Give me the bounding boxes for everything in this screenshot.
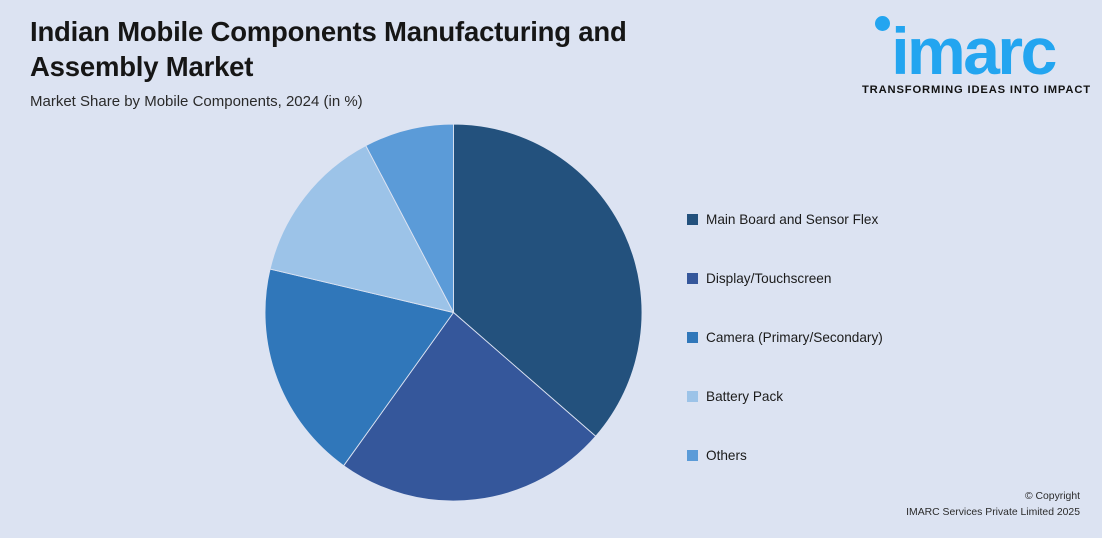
legend-item[interactable]: Camera (Primary/Secondary) [687, 308, 1027, 367]
legend-label: Battery Pack [706, 390, 783, 404]
chart-legend: Main Board and Sensor FlexDisplay/Touchs… [687, 190, 1027, 485]
copyright-line-1: © Copyright [906, 489, 1080, 505]
legend-label: Display/Touchscreen [706, 272, 831, 286]
copyright-notice: © Copyright IMARC Services Private Limit… [906, 489, 1080, 521]
header: Indian Mobile Components Manufacturing a… [30, 14, 750, 112]
logo-dot-icon [875, 16, 890, 31]
legend-item[interactable]: Others [687, 426, 1027, 485]
page-title: Indian Mobile Components Manufacturing a… [30, 14, 750, 84]
legend-swatch-icon [687, 214, 698, 225]
legend-swatch-icon [687, 332, 698, 343]
legend-swatch-icon [687, 273, 698, 284]
imarc-logo: imarc TRANSFORMING IDEAS INTO IMPACT [862, 16, 1084, 96]
pie-chart-svg [265, 124, 642, 501]
legend-label: Camera (Primary/Secondary) [706, 331, 883, 345]
chart-canvas: Indian Mobile Components Manufacturing a… [0, 0, 1102, 538]
legend-swatch-icon [687, 450, 698, 461]
legend-item[interactable]: Display/Touchscreen [687, 249, 1027, 308]
legend-item[interactable]: Main Board and Sensor Flex [687, 190, 1027, 249]
logo-wordmark-text: imarc [891, 14, 1055, 88]
pie-chart [265, 124, 642, 501]
logo-wordmark: imarc [862, 16, 1084, 78]
copyright-line-2: IMARC Services Private Limited 2025 [906, 505, 1080, 521]
legend-label: Main Board and Sensor Flex [706, 213, 878, 227]
legend-swatch-icon [687, 391, 698, 402]
chart-subtitle: Market Share by Mobile Components, 2024 … [30, 93, 750, 112]
legend-item[interactable]: Battery Pack [687, 367, 1027, 426]
legend-label: Others [706, 449, 747, 463]
